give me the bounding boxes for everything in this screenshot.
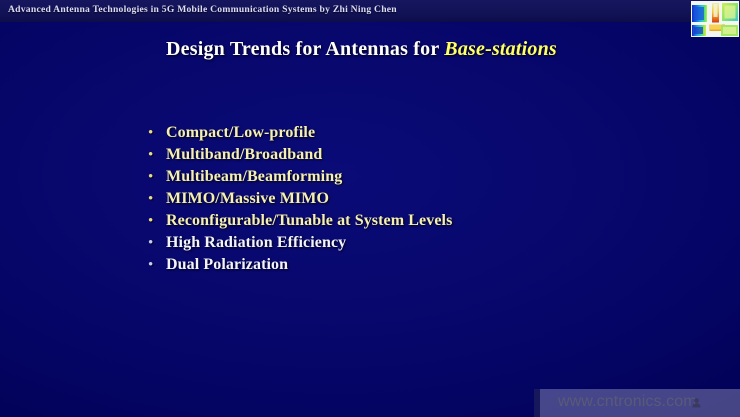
watermark-url-text: www.cntronics.com [558,393,697,411]
list-item: • Compact/Low-profile [148,122,578,144]
slide-title-lead: Design Trends for Antennas for [166,38,444,60]
bullet-label: Multibeam/Beamforming [166,166,342,188]
slide-title: Design Trends for Antennas for Base-stat… [166,38,557,61]
list-item: • Dual Polarization [148,254,578,276]
list-item: • Multibeam/Beamforming [148,166,578,188]
slide-bullet-list: • Compact/Low-profile • Multiband/Broadb… [148,122,578,276]
bullet-dot-icon: • [148,254,166,276]
bullet-dot-icon: • [148,232,166,254]
bullet-dot-icon: • [148,210,166,232]
bullet-label: MIMO/Massive MIMO [166,188,329,210]
bullet-label: High Radiation Efficiency [166,232,346,254]
slide-header-band: Advanced Antenna Technologies in 5G Mobi… [0,0,740,22]
presentation-running-title: Advanced Antenna Technologies in 5G Mobi… [8,4,397,15]
bullet-dot-icon: • [148,188,166,210]
bullet-label: Dual Polarization [166,254,288,276]
site-badge-icon [691,397,702,408]
bullet-label: Compact/Low-profile [166,122,315,144]
list-item: • MIMO/Massive MIMO [148,188,578,210]
bullet-dot-icon: • [148,144,166,166]
em-field-simulation-thumbnail-icon [691,1,739,37]
list-item: • Multiband/Broadband [148,144,578,166]
bullet-dot-icon: • [148,166,166,188]
bullet-label: Multiband/Broadband [166,144,322,166]
bullet-label: Reconfigurable/Tunable at System Levels [166,210,452,232]
bullet-dot-icon: • [148,122,166,144]
watermark-overlay: www.cntronics.com [540,389,740,417]
list-item: • High Radiation Efficiency [148,232,578,254]
list-item: • Reconfigurable/Tunable at System Level… [148,210,578,232]
slide-title-accent: Base-stations [444,38,557,60]
presentation-slide: Advanced Antenna Technologies in 5G Mobi… [0,0,740,417]
